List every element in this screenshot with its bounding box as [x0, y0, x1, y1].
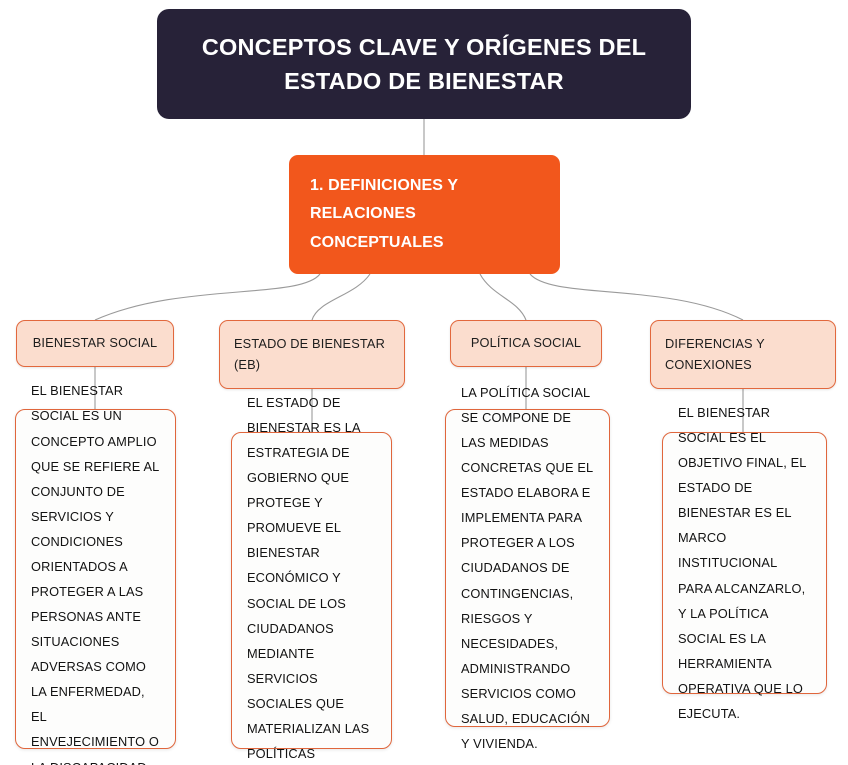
topic-node-diferencias-y-conexiones[interactable]: DIFERENCIAS Y CONEXIONES	[650, 320, 836, 389]
description-node-text: EL BIENESTAR SOCIAL ES EL OBJETIVO FINAL…	[678, 400, 811, 726]
connector-branch-to-topic-1	[312, 274, 370, 320]
description-node-text: LA POLÍTICA SOCIAL SE COMPONE DE LAS MED…	[461, 380, 594, 756]
concept-map-canvas: CONCEPTOS CLAVE Y ORÍGENES DEL ESTADO DE…	[0, 0, 848, 765]
connector-branch-to-topic-2	[480, 274, 526, 320]
topic-node-label: DIFERENCIAS Y CONEXIONES	[665, 334, 821, 375]
description-node-text: EL ESTADO DE BIENESTAR ES LA ESTRATEGIA …	[247, 390, 376, 765]
description-node-diferencias-y-conexiones[interactable]: EL BIENESTAR SOCIAL ES EL OBJETIVO FINAL…	[662, 432, 827, 694]
description-node-estado-de-bienestar[interactable]: EL ESTADO DE BIENESTAR ES LA ESTRATEGIA …	[231, 432, 392, 749]
topic-node-politica-social[interactable]: POLÍTICA SOCIAL	[450, 320, 602, 367]
description-node-bienestar-social[interactable]: EL BIENESTAR SOCIAL ES UN CONCEPTO AMPLI…	[15, 409, 176, 749]
connector-branch-to-topic-3	[530, 274, 743, 320]
connector-branch-to-topic-0	[95, 274, 320, 320]
branch-node-definiciones[interactable]: 1. DEFINICIONES Y RELACIONES CONCEPTUALE…	[289, 155, 560, 274]
description-node-politica-social[interactable]: LA POLÍTICA SOCIAL SE COMPONE DE LAS MED…	[445, 409, 610, 727]
branch-node-label: 1. DEFINICIONES Y RELACIONES CONCEPTUALE…	[310, 172, 540, 257]
description-node-text: EL BIENESTAR SOCIAL ES UN CONCEPTO AMPLI…	[31, 378, 160, 765]
topic-node-label: POLÍTICA SOCIAL	[471, 333, 581, 354]
root-node[interactable]: CONCEPTOS CLAVE Y ORÍGENES DEL ESTADO DE…	[157, 9, 691, 119]
topic-node-label: ESTADO DE BIENESTAR (EB)	[234, 334, 390, 375]
topic-node-label: BIENESTAR SOCIAL	[33, 333, 157, 354]
topic-node-bienestar-social[interactable]: BIENESTAR SOCIAL	[16, 320, 174, 367]
topic-node-estado-de-bienestar[interactable]: ESTADO DE BIENESTAR (EB)	[219, 320, 405, 389]
root-node-label: CONCEPTOS CLAVE Y ORÍGENES DEL ESTADO DE…	[183, 30, 665, 98]
